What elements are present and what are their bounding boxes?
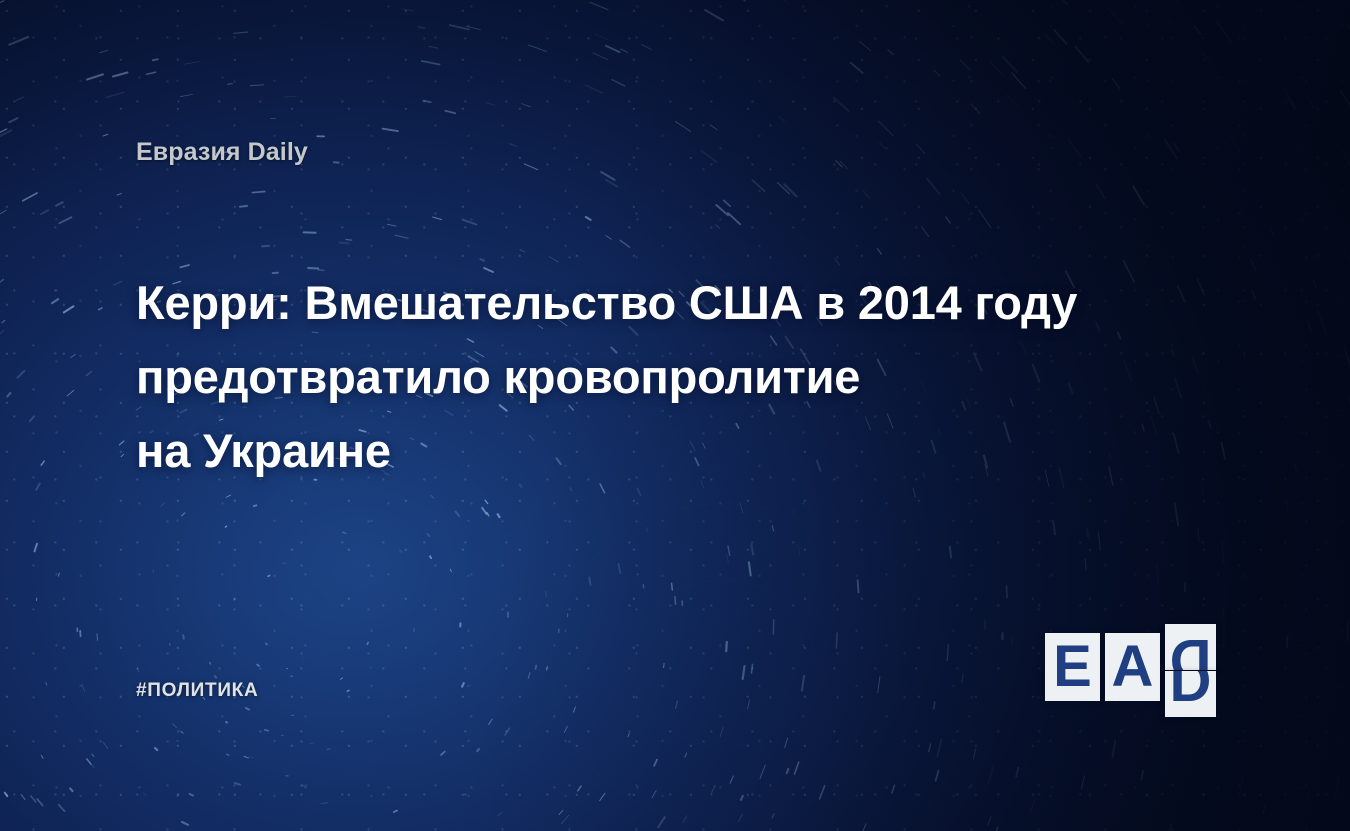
logo-letter-a: A [1105,633,1160,701]
rubric-tag-politics[interactable]: #ПОЛИТИКА [136,680,258,702]
headline-line-3: на Украине [136,414,1266,488]
logo-letter-d-rotated: D [1165,636,1216,670]
logo-tile-d: D [1165,671,1216,717]
logo-tile-a: A [1105,633,1160,701]
headline-line-2: предотвратило кровопролитие [136,340,1266,414]
card-content: Евразия Daily Керри: Вмешательство США в… [0,0,1350,831]
brand-title: Евразия Daily [136,138,308,167]
eadaily-logo[interactable]: E A D D [1045,624,1227,712]
news-card: Евразия Daily Керри: Вмешательство США в… [0,0,1350,831]
logo-tile-e: E [1045,633,1100,701]
logo-tile-d-rotated: D [1165,624,1216,670]
page-title: Керри: Вмешательство США в 2014 году пре… [136,266,1266,488]
logo-letter-e: E [1045,633,1100,701]
logo-letter-d: D [1165,671,1216,705]
headline-line-1: Керри: Вмешательство США в 2014 году [136,266,1266,340]
